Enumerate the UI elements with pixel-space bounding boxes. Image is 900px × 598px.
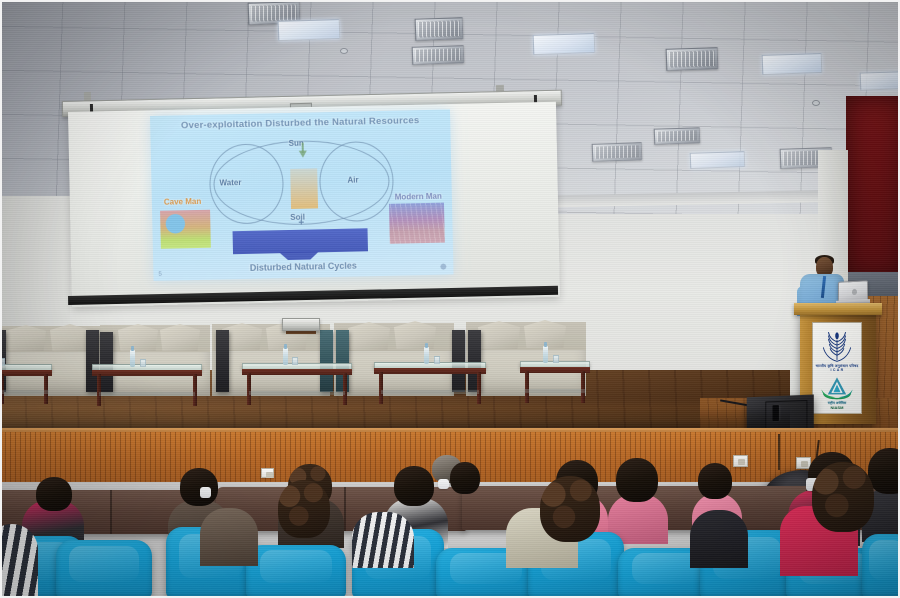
- audience-person-head: [394, 466, 434, 506]
- audience-person-torso: [200, 508, 258, 566]
- ceiling-light: [762, 53, 823, 75]
- slide-corner-logo-icon: [438, 262, 448, 272]
- audience-person-head: [36, 477, 72, 511]
- bench-seam: [344, 487, 346, 531]
- table-apron: [92, 370, 202, 376]
- slide-title: Over-exploitation Disturbed the Natural …: [150, 114, 450, 132]
- table-leg: [247, 373, 251, 405]
- audience-person-head: [540, 476, 600, 542]
- water-bottle: [424, 347, 429, 364]
- audience-person-head: [180, 468, 218, 506]
- podium-logo-panel: भारतीय कृषि अनुसंधान परिषद I C A R राष्ट…: [812, 322, 862, 414]
- hanging-cable: [778, 434, 780, 470]
- coffee-table: [242, 363, 352, 405]
- bench-seam: [110, 490, 112, 534]
- table-leg: [44, 374, 48, 404]
- slide-blue-banner: [233, 228, 368, 254]
- audience-person-head: [450, 462, 480, 494]
- table-lower-shelf: [0, 390, 49, 394]
- table-leg: [343, 373, 347, 405]
- table-lower-shelf: [249, 391, 346, 395]
- slide-caption-cave-man: Cave Man: [164, 197, 202, 207]
- water-bottle: [543, 346, 548, 363]
- audience-person-head: [812, 462, 874, 532]
- ceiling-light: [860, 71, 900, 90]
- audience-person-torso: [0, 524, 38, 598]
- projector: [282, 318, 320, 331]
- table-leg: [379, 372, 383, 404]
- table-leg: [193, 374, 197, 406]
- table-leg: [581, 371, 585, 403]
- table-leg: [0, 374, 4, 404]
- drinking-glass: [0, 358, 5, 366]
- audience-chair[interactable]: [862, 534, 900, 598]
- sun-arrow-icon: [299, 151, 307, 158]
- audience-chair[interactable]: [246, 545, 346, 598]
- auditorium-photo: Over-exploitation Disturbed the Natural …: [0, 0, 900, 598]
- red-acoustic-panel: [846, 96, 900, 281]
- drinking-glass: [292, 357, 298, 365]
- water-bottle: [283, 348, 288, 365]
- coffee-table: [520, 361, 590, 403]
- icar-abbr-line: I C A R: [831, 368, 844, 372]
- cycle-label-air: Air: [347, 175, 358, 184]
- audience-person-torso: [690, 510, 748, 568]
- wall-socket[interactable]: [733, 455, 748, 467]
- table-apron: [374, 368, 486, 374]
- sofa-armrest: [216, 330, 229, 392]
- cave-man-image: [160, 210, 211, 249]
- cycle-label-water: Water: [219, 178, 241, 187]
- podium-top-surface: [794, 303, 882, 315]
- modern-man-image: [389, 203, 445, 244]
- table-leg: [525, 371, 529, 403]
- table-apron: [520, 367, 590, 373]
- face-mask: [438, 479, 449, 489]
- projected-slide: Over-exploitation Disturbed the Natural …: [150, 109, 454, 281]
- ceiling-vent: [592, 142, 643, 162]
- niasm-logo-icon: [820, 375, 854, 401]
- slide-caption-modern-man: Modern Man: [395, 192, 442, 202]
- table-leg: [97, 374, 101, 406]
- icar-wheat-logo-icon: [820, 329, 854, 363]
- icar-hindi-line: भारतीय कृषि अनुसंधान परिषद: [815, 364, 858, 368]
- audience-person-head: [616, 458, 658, 502]
- table-lower-shelf: [524, 389, 586, 393]
- audience-person-torso: [352, 512, 414, 568]
- smoke-detector-icon: [812, 100, 820, 106]
- coffee-table: [374, 362, 486, 404]
- ceiling-light: [690, 151, 746, 169]
- ceiling-vent: [666, 47, 719, 71]
- ceiling-light: [278, 19, 341, 41]
- slide-number: 5: [158, 272, 161, 278]
- table-lower-shelf: [99, 392, 196, 396]
- water-bottle: [130, 350, 135, 367]
- table-leg: [477, 372, 481, 404]
- table-apron: [242, 369, 352, 375]
- wall-socket[interactable]: [261, 468, 274, 478]
- audience-person-head: [278, 480, 330, 538]
- soil-profile-image: [290, 168, 318, 209]
- drinking-glass: [434, 356, 440, 364]
- face-mask: [200, 487, 211, 498]
- drinking-glass: [553, 355, 559, 363]
- ceiling-vent: [654, 127, 701, 145]
- audience-chair[interactable]: [56, 540, 152, 598]
- niasm-text-block: राष्ट्रीय अजैविक NIASM: [813, 401, 861, 411]
- drinking-glass: [140, 359, 146, 367]
- coffee-table: [92, 364, 202, 406]
- slide-blue-tab: [279, 251, 319, 260]
- laptop-logo-icon: [852, 289, 857, 295]
- slide-bottom-caption: Disturbed Natural Cycles: [153, 258, 453, 275]
- plus-icon: +: [298, 218, 304, 229]
- ceiling-light: [533, 33, 596, 55]
- icar-org-text: भारतीय कृषि अनुसंधान परिषद I C A R: [813, 364, 861, 373]
- coffee-table: [0, 364, 52, 404]
- audience-person-head: [698, 463, 732, 499]
- niasm-abbr-line: NIASM: [831, 405, 844, 410]
- ceiling-vent: [412, 45, 465, 65]
- smoke-detector-icon: [340, 48, 348, 54]
- table-lower-shelf: [381, 390, 480, 394]
- ceiling-vent: [415, 17, 464, 41]
